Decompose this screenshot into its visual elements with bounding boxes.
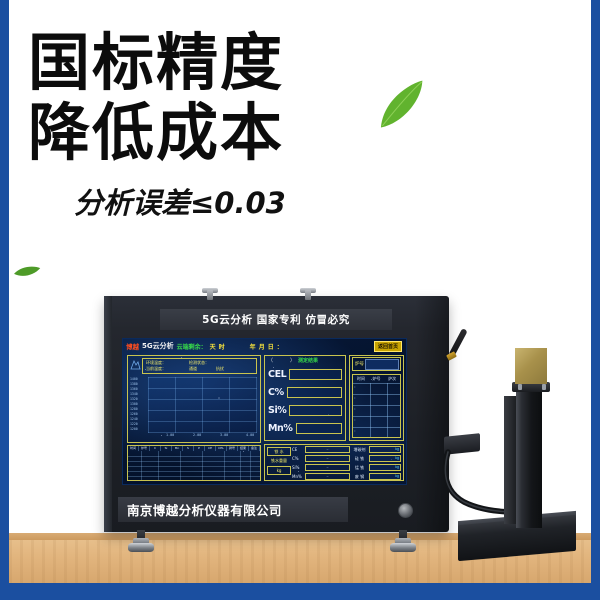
calc-additive: 硅 铁	[352, 456, 367, 462]
frame-border-left	[0, 0, 9, 600]
channel-label: 通道	[189, 366, 197, 372]
headline-line-1: 国标精度	[28, 28, 368, 98]
calc-rows: CE ~ 增碳剂 kg C% ~ 硅 铁 kg Si% ~ 锰 铁	[292, 446, 401, 479]
history-cell: ：	[354, 429, 358, 434]
x-tick: 2.00	[193, 433, 201, 437]
y-tick: 1300	[130, 402, 138, 406]
result-paren-left: （	[268, 357, 273, 364]
y-tick: 1260	[130, 412, 138, 416]
furnace-no-field[interactable]: 炉号	[352, 357, 401, 371]
holder-pin-left	[518, 384, 522, 390]
result-label: Mn%	[268, 423, 293, 434]
result-row-mn: Mn%	[268, 423, 342, 434]
holder-pin-right	[542, 384, 546, 390]
result-value-box[interactable]	[289, 369, 342, 380]
calc-row-c: C% ~ 硅 铁 kg	[292, 455, 401, 462]
analyzer-device: 5G云分析 国家专利 仿冒必究 博越 5G云分析 云端剩余：	[104, 296, 449, 532]
result-value-box[interactable]	[287, 387, 342, 398]
x-tick: 3.00	[220, 433, 228, 437]
calc-amount-box[interactable]: kg	[369, 455, 401, 462]
result-row-si: Si%	[268, 405, 342, 416]
history-cell: ：	[354, 396, 358, 401]
result-value-box[interactable]	[289, 405, 342, 416]
history-col: 时间	[353, 375, 369, 383]
history-table-header: 时间 炉号 炉次	[353, 375, 400, 383]
calc-range[interactable]: ~	[305, 464, 350, 471]
molten-iron-weight-unit[interactable]: kg	[267, 466, 291, 475]
device-left-edge	[104, 296, 112, 532]
result-title: 测定结果	[298, 357, 318, 364]
furnace-no-label: 炉号	[353, 361, 364, 367]
headline-subtitle: 分析误差≤0.03	[74, 180, 368, 222]
peak-logo-icon	[130, 359, 141, 370]
cloud-remaining-label: 云端剩余：	[177, 342, 207, 351]
date-month: 月	[259, 342, 265, 351]
leaf-icon	[368, 78, 436, 132]
y-tick: 1240	[130, 417, 138, 421]
y-tick: 1320	[130, 397, 138, 401]
screen-topbar: 博越 5G云分析 云端剩余： 天 时 年 月 日 ：	[123, 339, 406, 353]
cloud-remaining-hours: 时	[219, 342, 225, 351]
chassis-banner: 5G云分析 国家专利 仿冒必究	[160, 309, 392, 330]
screenshot-stage: 国标精度 降低成本 分析误差≤0.03 5G云分析 国家专利 仿冒必究	[0, 0, 600, 600]
leaf-small-icon	[13, 261, 42, 282]
result-row-c: C%	[268, 387, 342, 398]
history-panel: 炉号 时间 炉号 炉次	[349, 355, 404, 441]
history-col: 炉号	[369, 375, 385, 383]
result-header: （ ） 测定结果	[268, 357, 318, 364]
handle-right[interactable]	[305, 290, 311, 300]
data-grid-panel[interactable]: 时间 炉号 C Si Mn S P CE CEL 牌号 结果 备注	[127, 445, 261, 481]
chart-status-header: 环境温度： 检测状态： 当前温度： 通道 抗扰	[142, 358, 257, 374]
calc-row-ce: CE ~ 增碳剂 kg	[292, 446, 401, 453]
home-button[interactable]: 返回首页	[374, 341, 402, 352]
chart-panel: 环境温度： 检测状态： 当前温度： 通道 抗扰 1400 1380 1360 1…	[127, 355, 261, 443]
calc-element: Si%	[292, 465, 303, 470]
date-colon: ：	[277, 342, 283, 351]
result-label: C%	[268, 387, 284, 398]
calc-element: CE	[292, 447, 303, 452]
calc-unit: kg	[395, 465, 399, 469]
furnace-no-input[interactable]	[365, 359, 399, 370]
lcd-screen[interactable]: 博越 5G云分析 云端剩余： 天 时 年 月 日 ： 返回首页 环境温度：	[122, 338, 407, 485]
result-panel: （ ） 测定结果 CEL C% Si% Mn%	[264, 355, 346, 441]
date-year: 年	[250, 342, 256, 351]
y-tick: 1360	[130, 387, 138, 391]
current-temp-label: 当前温度：	[146, 366, 166, 372]
history-table-body: ： ： ： ： ：	[353, 383, 400, 437]
chassis-banner-text: 5G云分析 国家专利 仿冒必究	[202, 312, 350, 327]
y-tick: 1340	[130, 392, 138, 396]
frame-border-right	[591, 0, 600, 600]
x-tick: 1.00	[166, 433, 174, 437]
sample-holder[interactable]	[515, 348, 547, 384]
calc-unit: kg	[395, 447, 399, 451]
brand-footer-text: 南京博越分析仪器有限公司	[127, 500, 282, 519]
brand-footer-plate: 南京博越分析仪器有限公司	[118, 497, 348, 522]
calc-additive: 锰 铁	[352, 465, 367, 471]
foot-left	[128, 530, 154, 552]
result-value-box[interactable]	[296, 423, 342, 434]
headline-block: 国标精度 降低成本 分析误差≤0.03	[28, 28, 368, 222]
result-label: Si%	[268, 405, 286, 416]
data-grid-rows	[128, 451, 260, 480]
history-cell: ：	[354, 418, 358, 423]
molten-iron-weight-label: 铁水重量	[267, 458, 291, 464]
calc-range[interactable]: ~	[305, 473, 350, 480]
calc-additive: 废 钢	[352, 474, 367, 480]
handle-left[interactable]	[207, 290, 213, 300]
x-tick: 4.00	[246, 433, 254, 437]
calc-row-si: Si% ~ 锰 铁 kg	[292, 464, 401, 471]
y-tick: 1380	[130, 382, 138, 386]
calc-unit: kg	[395, 456, 399, 460]
screen-title: 5G云分析	[142, 341, 174, 351]
calc-amount-box[interactable]: kg	[369, 464, 401, 471]
calc-element: C%	[292, 456, 303, 461]
date-day: 日	[268, 342, 274, 351]
cloud-remaining-days: 天	[210, 342, 216, 351]
calc-range[interactable]: ~	[305, 446, 350, 453]
calc-amount-box[interactable]: kg	[369, 473, 401, 480]
y-tick: 1220	[130, 422, 138, 426]
addition-calc-panel: 铁 水 铁水重量 kg CE ~ 增碳剂 kg C% ~ 硅 铁	[264, 444, 404, 481]
calc-element: Mn%	[292, 474, 303, 479]
history-cell: ：	[354, 407, 358, 412]
history-table[interactable]: 时间 炉号 炉次 ： ： ：	[352, 374, 401, 438]
y-tick: 1280	[130, 407, 138, 411]
chart-y-axis: 1400 1380 1360 1340 1320 1300 1280 1260 …	[130, 377, 148, 433]
interference-label: 抗扰	[216, 366, 224, 372]
calc-range[interactable]: ~	[305, 455, 350, 462]
result-paren-right: ）	[290, 357, 295, 364]
frame-border-bottom	[0, 583, 600, 600]
y-tick: 1200	[130, 427, 138, 431]
y-tick: 1400	[130, 377, 138, 381]
molten-iron-title: 铁 水	[267, 447, 291, 456]
screen-brand: 博越	[126, 341, 139, 351]
foot-right	[390, 530, 416, 552]
molten-iron-block: 铁 水 铁水重量 kg	[267, 447, 291, 478]
chart-plot-area	[148, 377, 257, 433]
calc-amount-box[interactable]: kg	[369, 446, 401, 453]
history-col: 炉次	[384, 375, 400, 383]
calc-additive: 增碳剂	[352, 447, 367, 453]
stand-column	[516, 378, 542, 528]
result-row-cel: CEL	[268, 369, 342, 380]
chart-x-axis: 1.00 2.00 3.00 4.00	[148, 433, 257, 440]
history-cell: ：	[354, 385, 358, 390]
calc-unit: kg	[395, 474, 399, 478]
power-button[interactable]	[398, 503, 413, 518]
calc-row-mn: Mn% ~ 废 钢 kg	[292, 473, 401, 480]
result-label: CEL	[268, 369, 286, 380]
headline-line-2: 降低成本	[28, 98, 368, 168]
